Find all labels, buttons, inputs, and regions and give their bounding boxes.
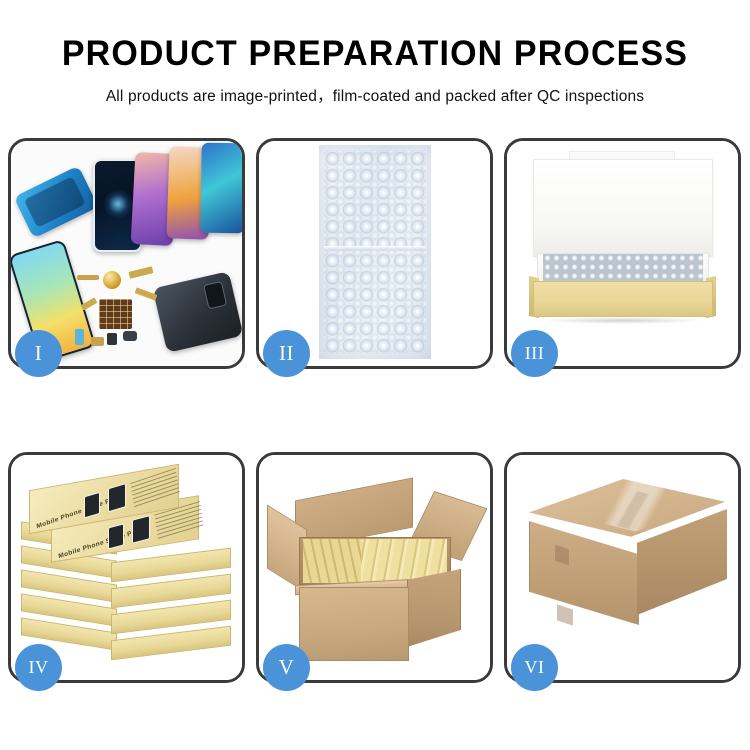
battery-part — [123, 331, 137, 341]
phone-back-panel-blue — [14, 166, 99, 239]
chip-board-part — [99, 299, 132, 329]
page-title: PRODUCT PREPARATION PROCESS — [11, 36, 739, 73]
phone-screen-teal — [200, 143, 242, 234]
box-printed-screen-3 — [84, 492, 100, 519]
small-part-bar — [77, 275, 99, 280]
packed-yellow-boxes-left-group — [303, 539, 361, 583]
flex-cable-part-1 — [129, 266, 154, 279]
step-badge-2: II — [263, 330, 310, 377]
bubble-pattern-back — [324, 151, 426, 353]
step-panel-3: III — [504, 138, 741, 369]
carton-front-face — [299, 587, 409, 661]
step-badge-4: IV — [15, 644, 62, 691]
box-lid-white — [533, 159, 713, 257]
box-printed-text-lines-2 — [130, 468, 180, 508]
step-badge-6: VI — [511, 644, 558, 691]
bracket-part — [91, 337, 104, 346]
step-badge-5: V — [263, 644, 310, 691]
bubble-wrapped-item-in-box — [543, 254, 703, 282]
box-printed-screen-2 — [132, 515, 150, 544]
phone-rear-housing — [153, 271, 242, 353]
step-badge-3: III — [511, 330, 558, 377]
box-printed-screen-4 — [108, 483, 126, 512]
step-badge-1: I — [15, 330, 62, 377]
carton-side-face — [407, 569, 461, 647]
bubble-wrap-seam — [324, 246, 426, 251]
product-preparation-infographic: PRODUCT PREPARATION PROCESS All products… — [0, 0, 750, 750]
step-panel-5: V — [256, 452, 493, 683]
flex-cable-part-2 — [135, 287, 158, 300]
page-subtitle: All products are image-printed，film-coat… — [0, 84, 750, 106]
box-printed-screen-1 — [108, 523, 124, 549]
step-panel-4: Mobile Phone Spare Parts Mobile Phone Sp… — [8, 452, 245, 683]
header: PRODUCT PREPARATION PROCESS All products… — [0, 0, 750, 106]
sealed-carton-left-face — [529, 521, 639, 625]
steps-grid: I II — [8, 138, 742, 683]
flex-cable-part-3 — [81, 297, 98, 310]
step-panel-2: II — [256, 138, 493, 369]
speaker-part-icon — [103, 271, 121, 289]
carton-notch-lower — [557, 604, 573, 625]
connector-part — [75, 329, 84, 345]
step-panel-1: I — [8, 138, 245, 369]
box-front-kraft — [533, 281, 713, 317]
step-panel-6: VI — [504, 452, 741, 683]
box-shadow — [541, 317, 705, 324]
camera-module-part — [107, 333, 117, 345]
bubble-wrap-sheet — [319, 145, 431, 359]
